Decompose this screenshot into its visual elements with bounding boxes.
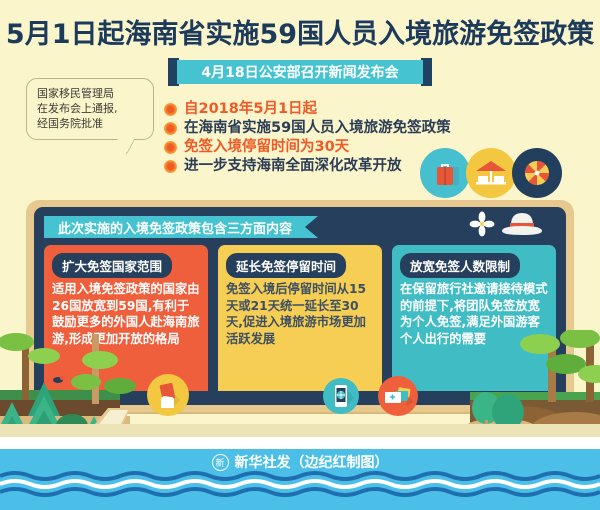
card-title: 延长免签停留时间 <box>226 253 346 278</box>
ribbon-label: 4月18日公安部召开新闻发布会 <box>201 62 398 82</box>
card-title: 扩大免签国家范围 <box>52 253 172 278</box>
list-item-label: 免签入境停留时间为30天 <box>184 138 349 157</box>
flower-icon <box>470 212 495 237</box>
list-item-label: 自2018年5月1日起 <box>184 100 317 119</box>
bullet-dot-icon <box>164 103 177 116</box>
hat-decoration <box>466 209 556 243</box>
key-points-list: 自2018年5月1日起 在海南省实施59国人员入境旅游免签政策 免签入境停留时间… <box>164 100 451 176</box>
card-title: 放宽免签人数限制 <box>400 253 520 278</box>
wave-pattern <box>0 470 600 510</box>
bubble-line-1: 国家移民管理局 <box>37 86 145 101</box>
list-item: 免签入境停留时间为30天 <box>164 138 451 157</box>
suitcase-icon <box>420 148 470 198</box>
ribbon-bar: 4月18日公安部召开新闻发布会 <box>177 60 423 84</box>
bullet-dot-icon <box>164 141 177 154</box>
beach-umbrella-icon <box>512 148 562 198</box>
bullet-dot-icon <box>164 122 177 135</box>
beach-pavilion-icon <box>466 148 516 198</box>
sun-hat-icon <box>502 213 542 235</box>
list-item: 进一步支持海南全面深化改革开放 <box>164 157 451 176</box>
credit-line: 新 新华社发（边纪红制图） <box>0 452 600 472</box>
xinhua-logo-icon: 新 <box>212 454 229 471</box>
bubble-line-2: 在发布会上通报, <box>37 101 145 116</box>
page-title: 5月1日起海南省实施59国人员入境旅游免签政策 <box>0 18 600 52</box>
subtitle-ribbon: 4月18日公安部召开新闻发布会 <box>168 58 432 86</box>
board-header: 此次实施的入境免签政策包含三方面内容 <box>44 216 318 238</box>
infographic-canvas: 5月1日起海南省实施59国人员入境旅游免签政策 4月18日公安部召开新闻发布会 … <box>0 0 600 510</box>
bubble-line-3: 经国务院批准 <box>37 116 145 131</box>
list-item-label: 进一步支持海南全面深化改革开放 <box>184 157 402 176</box>
list-item: 在海南省实施59国人员入境旅游免签政策 <box>164 119 451 138</box>
speech-bubble: 国家移民管理局 在发布会上通报, 经国务院批准 <box>26 78 154 140</box>
credit-text: 新华社发（边纪红制图） <box>235 452 389 472</box>
list-item-label: 在海南省实施59国人员入境旅游免签政策 <box>184 119 451 138</box>
list-item: 自2018年5月1日起 <box>164 100 451 119</box>
board-header-label: 此次实施的入境免签政策包含三方面内容 <box>58 218 292 237</box>
bullet-dot-icon <box>164 160 177 173</box>
